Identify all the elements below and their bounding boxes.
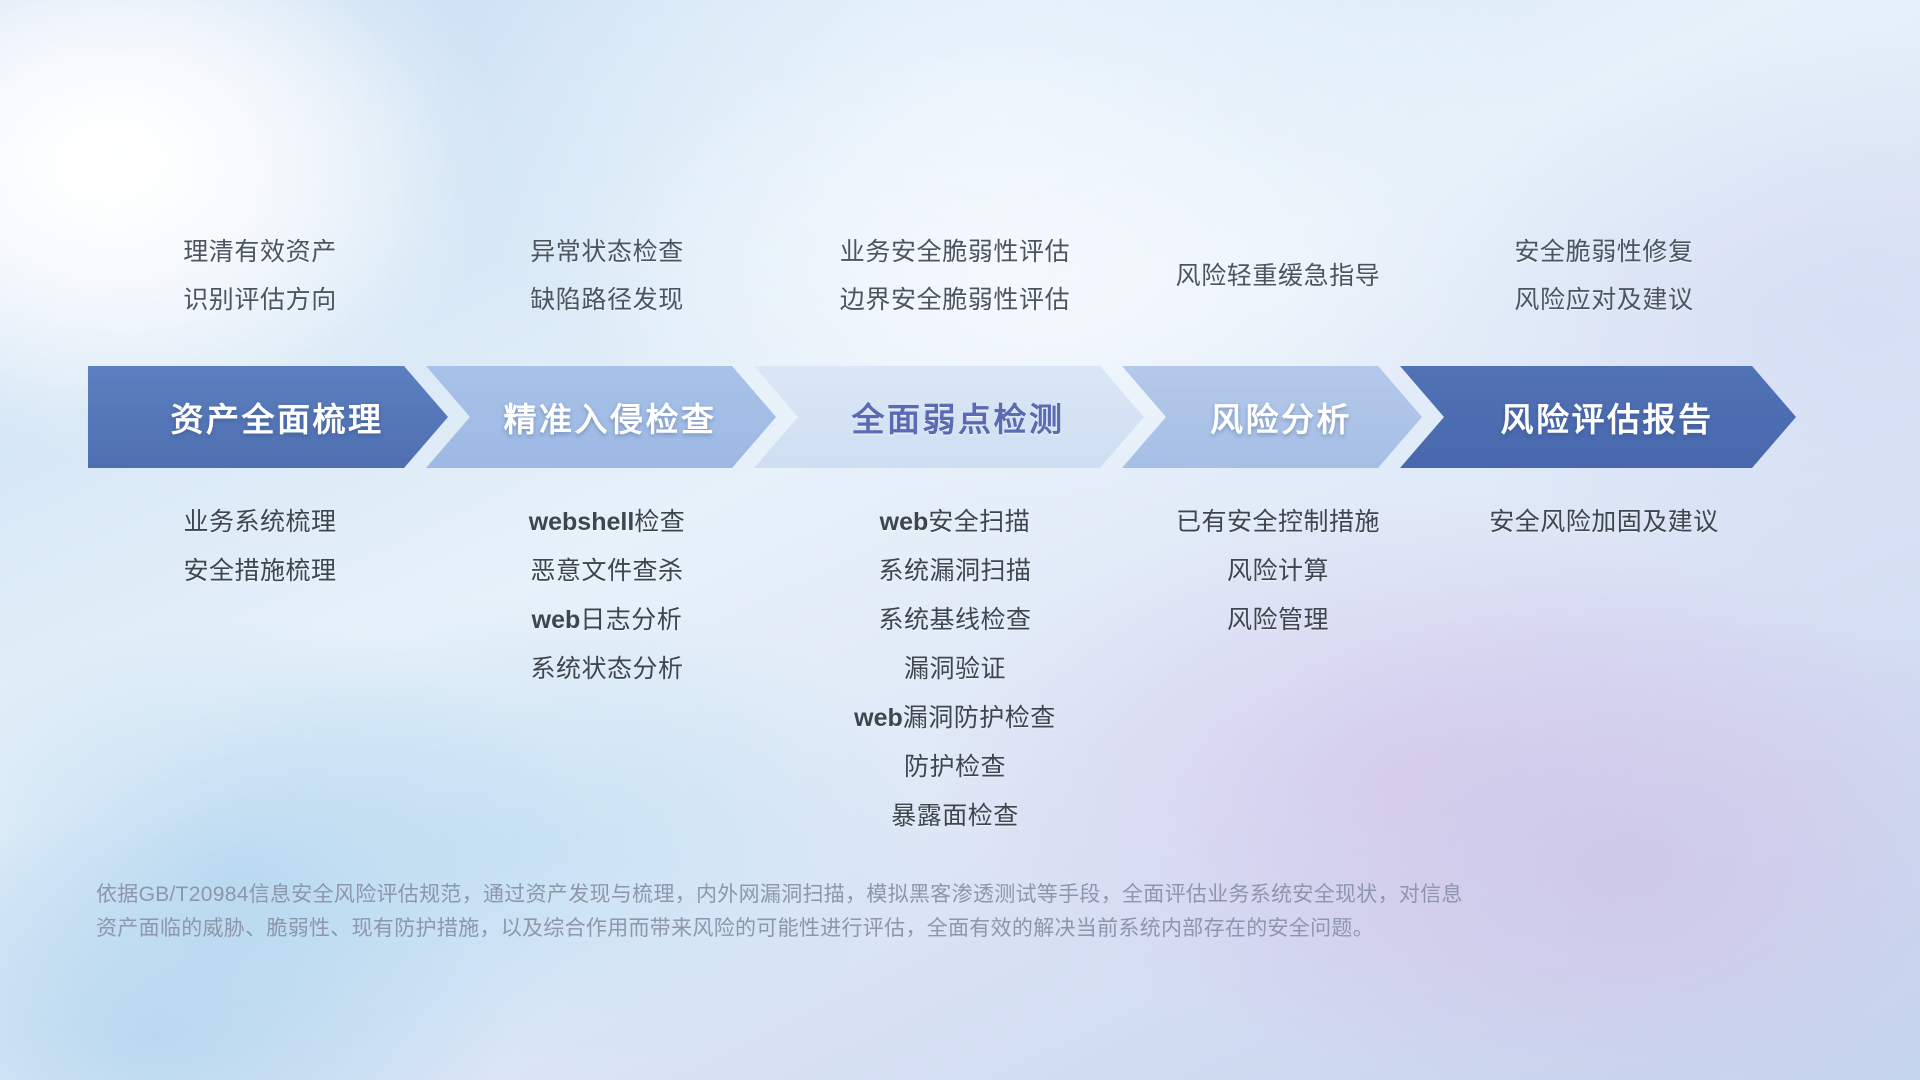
process-step-weakness-detection[interactable]: 全面弱点检测 [754, 366, 1144, 468]
footer-line-1: 依据GB/T20984信息安全风险评估规范，通过资产发现与梳理，内外网漏洞扫描，… [96, 878, 1736, 912]
detail-list-item-latin: web [854, 704, 903, 732]
process-step-label: 精准入侵检查 [486, 393, 717, 441]
process-step-label: 全面弱点检测 [834, 393, 1065, 441]
process-step-label: 资产全面梳理 [153, 393, 384, 441]
footer-line-2: 资产面临的威胁、脆弱性、现有防护措施，以及综合作用而带来风险的可能性进行评估，全… [96, 912, 1736, 946]
process-step-assessment-report[interactable]: 风险评估报告 [1400, 366, 1796, 468]
detail-list-item: 风险管理 [978, 596, 1578, 645]
detail-list-item: 风险计算 [978, 547, 1578, 596]
detail-list-item-latin: web [880, 508, 929, 536]
top-notes-row: 理清有效资产识别评估方向异常状态检查缺陷路径发现业务安全脆弱性评估边界安全脆弱性… [0, 228, 1920, 348]
slide-content: 理清有效资产识别评估方向异常状态检查缺陷路径发现业务安全脆弱性评估边界安全脆弱性… [0, 0, 1920, 1080]
process-step-risk-analysis[interactable]: 风险分析 [1122, 366, 1422, 468]
detail-list-item-latin: webshell [529, 508, 635, 536]
top-note-column-assessment-report: 安全脆弱性修复风险应对及建议 [1304, 228, 1904, 324]
top-note-item: 安全脆弱性修复 [1304, 228, 1904, 276]
process-step-label: 风险分析 [1192, 393, 1352, 441]
detail-list-item: 防护检查 [655, 743, 1255, 792]
top-note-item: 风险应对及建议 [1304, 276, 1904, 324]
process-step-asset-inventory[interactable]: 资产全面梳理 [88, 366, 448, 468]
detail-list-item: 安全风险加固及建议 [1304, 498, 1904, 547]
detail-list-item-latin: web [532, 606, 581, 634]
slide-canvas: 理清有效资产识别评估方向异常状态检查缺陷路径发现业务安全脆弱性评估边界安全脆弱性… [0, 0, 1920, 1080]
footer-description: 依据GB/T20984信息安全风险评估规范，通过资产发现与梳理，内外网漏洞扫描，… [96, 878, 1736, 946]
detail-list-assessment-report: 安全风险加固及建议 [1304, 498, 1904, 547]
process-arrow-band: 资产全面梳理精准入侵检查全面弱点检测风险分析风险评估报告 [88, 366, 1840, 468]
detail-list-item: 暴露面检查 [655, 792, 1255, 841]
process-step-intrusion-check[interactable]: 精准入侵检查 [426, 366, 776, 468]
detail-list-item: 漏洞验证 [655, 645, 1255, 694]
detail-list-item: web漏洞防护检查 [655, 694, 1255, 743]
process-step-label: 风险评估报告 [1483, 393, 1714, 441]
bottom-detail-lists: 业务系统梳理安全措施梳理webshell检查恶意文件查杀web日志分析系统状态分… [0, 498, 1920, 858]
